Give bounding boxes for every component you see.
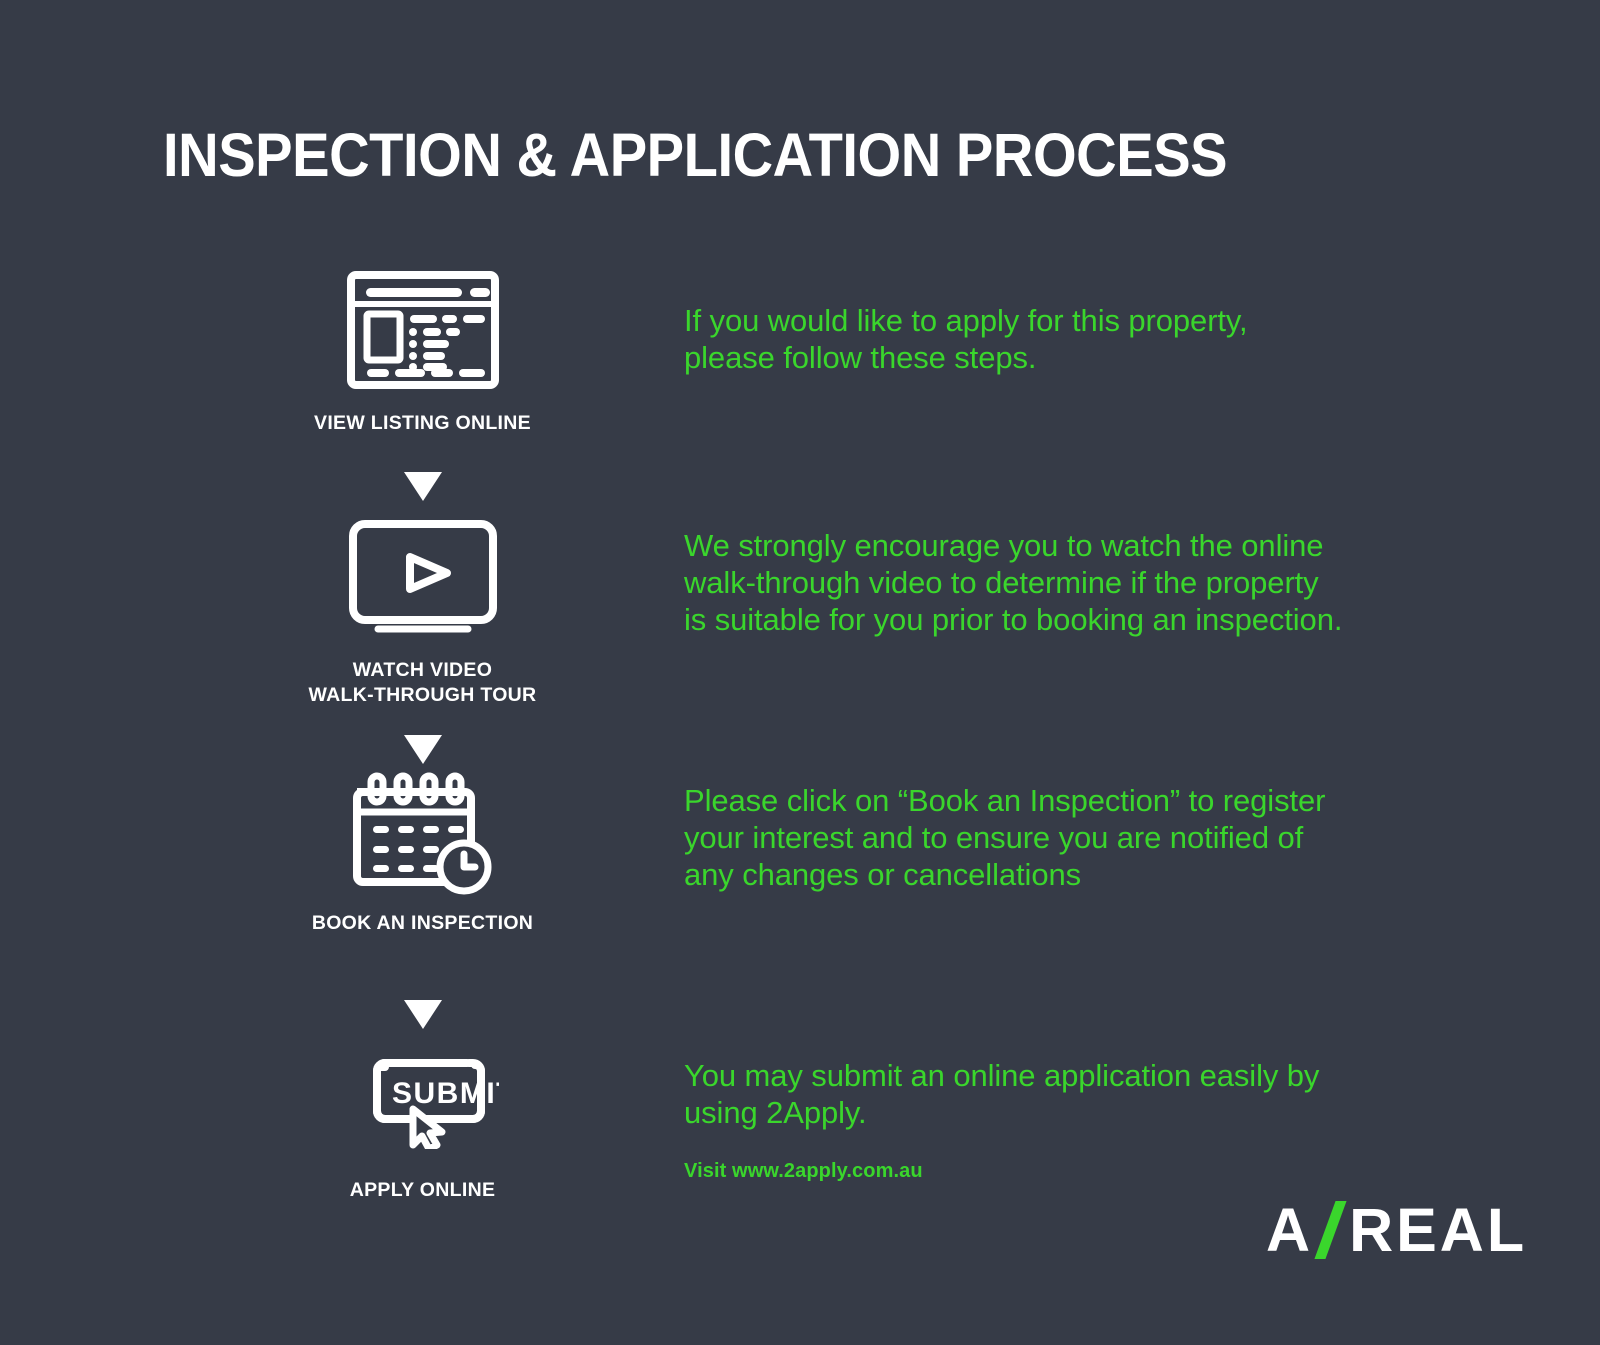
flow-step-book-inspection[interactable]: BOOK AN INSPECTION: [250, 765, 595, 936]
flow-step-label: APPLY ONLINE: [250, 1178, 595, 1203]
brand-logo[interactable]: A REAL: [1266, 1199, 1527, 1261]
infographic-page: INSPECTION & APPLICATION PROCESS: [0, 0, 1600, 1345]
flow-step-label: WATCH VIDEO WALK-THROUGH TOUR: [250, 658, 595, 708]
visit-link[interactable]: Visit www.2apply.com.au: [684, 1160, 923, 1183]
browser-listing-icon: [250, 265, 595, 395]
step-copy-book-inspection: Please click on “Book an Inspection” to …: [684, 783, 1404, 894]
flow-step-view-listing[interactable]: VIEW LISTING ONLINE: [250, 265, 595, 436]
logo-slash-icon: [1313, 1201, 1347, 1259]
logo-letter-a: A: [1266, 1200, 1311, 1261]
video-play-icon: [250, 512, 595, 642]
submit-button-cursor-icon: SUBMIT: [250, 1032, 595, 1162]
step-copy-watch-video: We strongly encourage you to watch the o…: [684, 528, 1444, 639]
flow-arrow-down-3: [250, 1000, 595, 1029]
logo-word-real: REAL: [1349, 1200, 1527, 1261]
step-copy-apply-online: You may submit an online application eas…: [684, 1058, 1404, 1132]
page-title: INSPECTION & APPLICATION PROCESS: [163, 125, 1227, 186]
flow-arrow-down-2: [250, 735, 595, 764]
flow-step-label: BOOK AN INSPECTION: [250, 911, 595, 936]
svg-text:SUBMIT: SUBMIT: [392, 1077, 499, 1110]
flow-step-watch-video[interactable]: WATCH VIDEO WALK-THROUGH TOUR: [250, 512, 595, 708]
step-copy-view-listing: If you would like to apply for this prop…: [684, 303, 1424, 377]
calendar-clock-icon: [250, 765, 595, 895]
flow-arrow-down-1: [250, 472, 595, 501]
flow-step-apply-online[interactable]: SUBMIT APPLY ONLINE: [250, 1032, 595, 1203]
flow-step-label: VIEW LISTING ONLINE: [250, 411, 595, 436]
